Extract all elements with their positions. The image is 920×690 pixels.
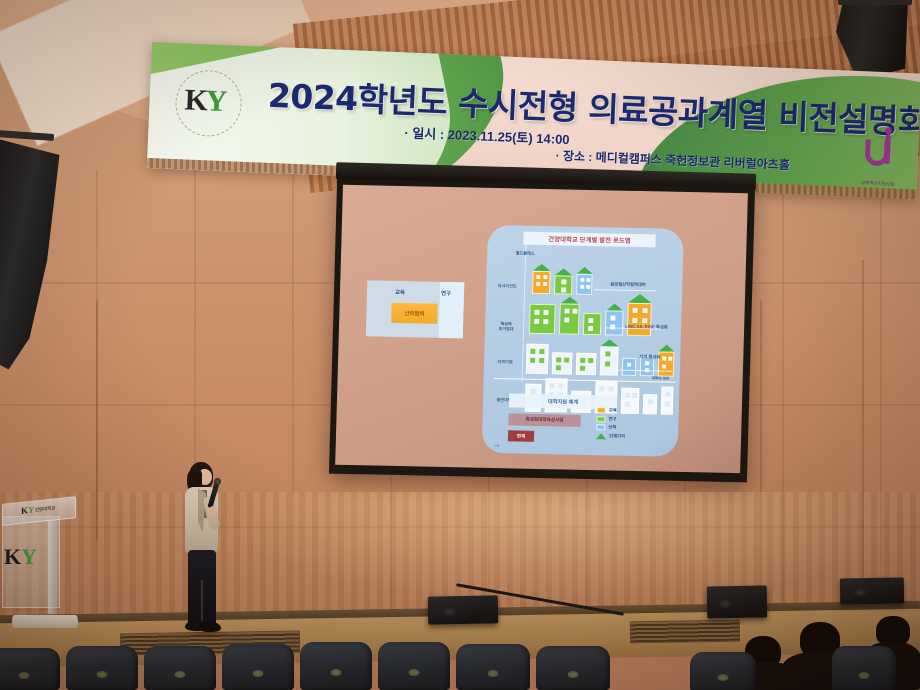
legend-label-talent-value: 인재가치 [609,433,625,439]
legend-label-research: 연구 [608,416,616,422]
logo-letter-y: Y [205,86,228,117]
audience-seat [300,642,372,690]
legend-label-industry: 산학 [608,424,616,430]
building-icon [529,304,556,335]
footer-box-specialization-program: 특성화대학육성사업 [508,413,580,427]
axis-label-tier-4: 지역거점 [490,359,520,365]
annotation-regional: 지역 특성화 [639,354,660,360]
presenter-leg-gap [201,580,203,622]
building-icon [605,303,624,335]
mini-panel-label-research: 연구 [441,289,451,297]
stage-monitor-speaker [707,585,768,618]
building-icon [583,313,602,335]
audience-seat [0,648,60,690]
lectern-stem [48,520,57,614]
audience-seat [456,644,530,690]
building-icon [552,352,573,374]
legend-swatch-research [596,416,605,422]
audience-seat [536,646,610,690]
annotation-growth: 대학의 성장 [652,376,670,381]
screen-surface: 교육 연구 산학협력 건양대학교 단계별 발전 로드맵 월드클래스 아시아선도 … [335,185,748,473]
auditorium-scene: K Y 2024학년도 수시전형 의료공과계열 비전설명회 · 일시 : 202… [0,0,920,690]
building-body [605,310,624,335]
tier-connector-line [594,289,656,291]
legend-swatch-industry [596,424,605,430]
building-body [627,303,652,336]
audience-seat [378,642,450,690]
legend-item: 산학 [596,424,662,431]
building-icon [622,358,636,376]
presenter-speaker [176,462,230,644]
legend-item: 연구 [596,416,662,423]
logo-i-shape [885,134,891,164]
legend-swatch-talent-value [596,433,606,439]
building-icon [559,296,580,334]
building-body [554,275,573,294]
building-body [583,313,602,335]
legend-item: 인재가치 [596,433,662,440]
legend-label-education: 교육 [609,407,617,413]
legend-swatch-education [597,407,606,413]
annotation-linc-rise: LINC 3.0, RISE 특성화 [625,324,668,331]
building-body [622,358,636,376]
building-body [532,271,551,294]
presentation-slide: 교육 연구 산학협력 건양대학교 단계별 발전 로드맵 월드클래스 아시아선도 … [335,185,748,473]
acrylic-lectern: KY 건양대학교 KY [2,500,78,628]
presenter-hand [209,506,217,515]
building-roof-icon [628,294,652,303]
slide-mini-panel: 교육 연구 산학협력 [366,280,465,338]
audience-seat [144,646,216,690]
building-icon [658,344,675,376]
slide-legend: 교육 연구 산학 인재가치 [596,407,663,442]
lectern-logo-small: KY [21,505,35,515]
building-body [529,304,556,335]
building-icon [532,264,551,294]
building-body [526,344,549,374]
lectern-top-shelf: KY 건양대학교 [2,496,76,526]
building-icon [576,353,597,375]
lectern-wordmark: 건양대학교 [35,505,55,513]
axis-label-tier-3: 특성화 초거점대 [491,321,521,332]
audience-seat [66,646,138,690]
annotation-global-industry: 글로벌산학협력대학 [610,281,646,288]
speaker-rigging-bar [838,0,912,5]
microphone-head-icon [214,478,221,485]
university-innovation-logo: 대학혁신지원사업 [857,133,901,189]
building-icon [576,267,593,295]
legend-item: 교육 [597,407,663,414]
audience-seat [832,646,896,690]
lectern-logo-large: KY [4,546,37,568]
slide-roadmap-card: 건양대학교 단계별 발전 로드맵 월드클래스 아시아선도 특성화 초거점대 지역… [482,225,684,457]
ky-university-logo: K Y [174,69,243,138]
slide-page-marker: 1/8 [494,443,500,448]
projection-screen: 교육 연구 산학협력 건양대학교 단계별 발전 로드맵 월드클래스 아시아선도 … [329,179,755,483]
audience-seat [690,652,756,690]
lectern-base [12,615,78,628]
axis-label-tier-2: 아시아선도 [492,283,522,289]
building-body [576,274,593,295]
stage-monitor-speaker [840,577,904,604]
mini-panel-label-education: 교육 [395,288,405,296]
audience-seat [222,644,294,690]
building-body [552,352,573,374]
mini-panel-highlight: 산학협력 [391,303,438,324]
building-body [576,353,597,375]
logo-letters: K Y [174,69,243,138]
building-icon [554,268,573,294]
stage-monitor-speaker [428,595,498,624]
axis-label-tier-top: 월드클래스 [511,250,539,256]
building-body [600,346,619,375]
building-body [559,303,580,334]
building-icon [526,344,549,374]
slide-title: 건양대학교 단계별 발전 로드맵 [523,232,655,248]
footer-box-current: 현재 [508,430,534,442]
